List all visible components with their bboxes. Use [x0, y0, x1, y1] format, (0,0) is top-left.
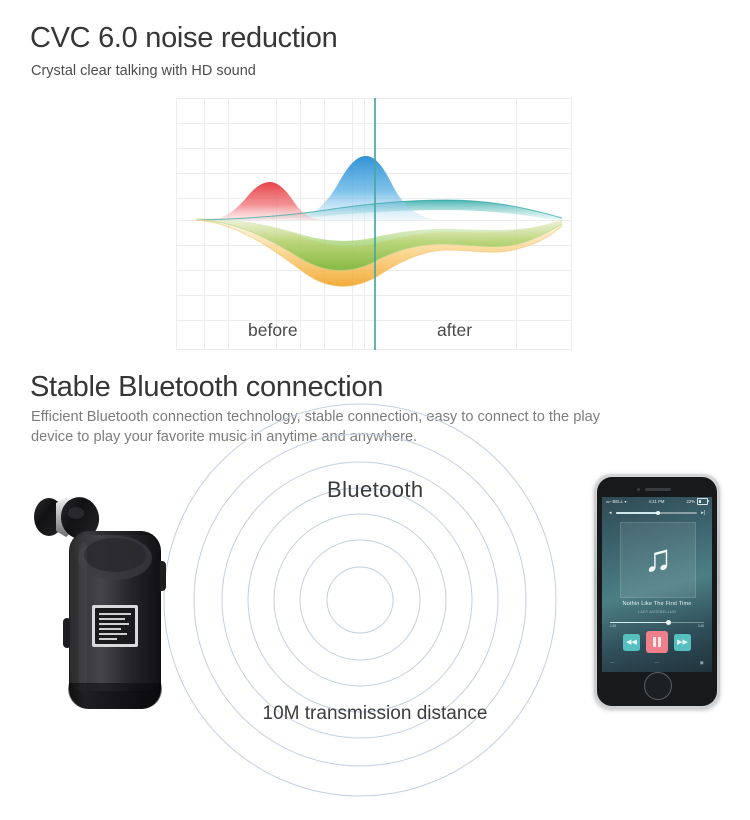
music-note-icon: ♫ [644, 540, 673, 578]
album-art: ♫ [620, 522, 696, 598]
playback-controls: ◀◀ ▶▶ [602, 631, 712, 653]
chart-label-before: before [248, 320, 298, 341]
phone-bezel: •••◦◦ BELL ▾ 4:21 PM 22% ◂ ▸| [597, 477, 717, 706]
battery-percent-label: 22% [686, 499, 695, 504]
carrier-label: BELL [613, 499, 623, 504]
noise-waveform-chart: before after [176, 98, 572, 350]
pause-icon[interactable] [646, 631, 668, 653]
volume-fill [616, 512, 658, 513]
progress-knob[interactable] [666, 620, 671, 625]
earphone-side-button-left [63, 618, 71, 648]
playback-progress[interactable]: 1:53 3:45 [610, 619, 704, 628]
ripple-ring-7 [164, 404, 556, 796]
bottom-center-icon[interactable]: — [655, 660, 660, 665]
volume-slider[interactable]: ◂ ▸| [609, 509, 705, 517]
bluetooth-ripple-rings [150, 390, 580, 820]
time-total: 3:45 [698, 624, 704, 628]
speaker-low-icon: ◂ [609, 511, 612, 516]
speaker-high-icon: ▸| [701, 511, 705, 516]
home-button[interactable] [644, 672, 672, 700]
track-artist: LADY ANTEBELLUM [602, 610, 712, 614]
time-elapsed: 1:53 [610, 624, 616, 628]
rewind-icon[interactable]: ◀◀ [623, 634, 640, 651]
front-camera-icon [637, 488, 640, 491]
ripple-ring-2 [300, 540, 420, 660]
earpiece-speaker [645, 488, 671, 491]
progress-fill [610, 622, 668, 623]
bottom-left-icon[interactable]: — [610, 660, 615, 665]
bluetooth-wordmark: Bluetooth [327, 477, 424, 503]
ripple-ring-1 [327, 567, 393, 633]
player-bottom-bar: — — ▣ [602, 657, 712, 668]
page-title-bluetooth: Stable Bluetooth connection [30, 371, 383, 404]
signal-strength-icon: •••◦◦ [606, 499, 611, 504]
page-body-bluetooth: Efficient Bluetooth connection technolog… [31, 408, 611, 447]
wifi-icon: ▾ [624, 499, 626, 504]
chart-svg [176, 98, 572, 350]
volume-knob[interactable] [656, 511, 661, 516]
page-subtitle-cvc: Crystal clear talking with HD sound [31, 63, 256, 79]
ripple-ring-5 [222, 462, 498, 738]
status-time: 4:21 PM [649, 499, 665, 504]
status-bar: •••◦◦ BELL ▾ 4:21 PM 22% [602, 497, 712, 506]
bluetooth-earphone-product-image [32, 483, 192, 715]
phone-screen: •••◦◦ BELL ▾ 4:21 PM 22% ◂ ▸| [602, 497, 712, 672]
battery-icon [697, 498, 708, 504]
smartphone-device: •••◦◦ BELL ▾ 4:21 PM 22% ◂ ▸| [594, 474, 720, 709]
transmission-distance-caption: 10M transmission distance [0, 703, 750, 725]
ripple-ring-3 [274, 514, 446, 686]
page-title-cvc: CVC 6.0 noise reduction [30, 22, 337, 55]
bottom-right-icon[interactable]: ▣ [700, 660, 704, 666]
chart-label-after: after [437, 320, 472, 341]
ripple-ring-4 [248, 488, 472, 712]
fast-forward-icon[interactable]: ▶▶ [674, 634, 691, 651]
track-title: Nothin Like The First Time [602, 601, 712, 607]
volume-track[interactable] [616, 512, 698, 513]
